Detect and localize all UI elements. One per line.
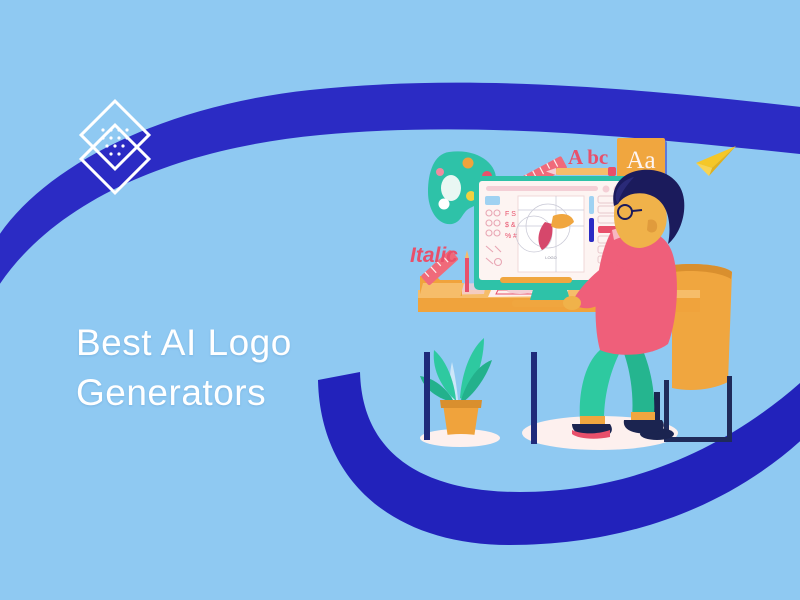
tool-icons-second-col: F S $ & % # [505, 211, 517, 240]
abc-label: A bc [568, 145, 608, 169]
poster-canvas: Aa A bc Italic [0, 0, 800, 600]
palette-dot-white [439, 199, 450, 210]
logo-canvas-text: LOGO [545, 255, 557, 260]
paper-plane-icon [696, 146, 736, 176]
pencil-stand [465, 250, 469, 292]
potted-plant [420, 338, 492, 446]
svg-text:$ &: $ & [505, 222, 516, 229]
svg-text:F S: F S [505, 211, 516, 218]
designer-at-desk-illustration: Aa A bc Italic [0, 0, 800, 600]
palette-dot-pink [436, 168, 444, 176]
page-title: Best AI Logo Generators [76, 318, 376, 418]
aa-label: Aa [626, 147, 655, 174]
italic-label: Italic [410, 244, 458, 267]
palette-dot-orange [463, 158, 474, 169]
svg-text:% #: % # [505, 233, 517, 240]
